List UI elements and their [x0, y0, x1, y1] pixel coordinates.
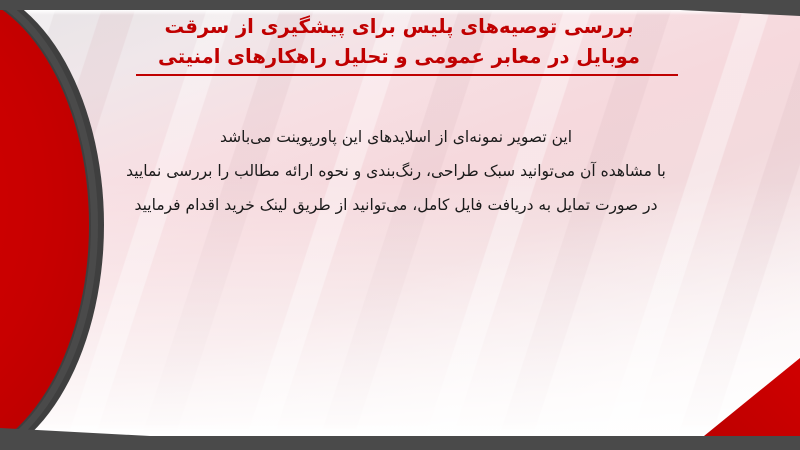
slide-body-text: این تصویر نمونه‌ای از اسلایدهای این پاور…	[112, 120, 680, 222]
bottom-frame-bar	[0, 436, 800, 450]
top-right-wedge	[680, 10, 800, 16]
title-underline-rule	[136, 74, 678, 76]
slide-title: بررسی توصیه‌های پلیس برای پیشگیری از سرق…	[110, 12, 688, 72]
presentation-slide: بررسی توصیه‌های پلیس برای پیشگیری از سرق…	[0, 0, 800, 450]
slide-title-line-2: موبایل در معابر عمومی و تحلیل راهکارهای …	[110, 42, 688, 72]
slide-body-line-3: در صورت تمایل به دریافت فایل کامل، می‌تو…	[112, 188, 680, 222]
bottom-left-wedge	[0, 428, 150, 436]
top-frame-bar	[0, 0, 800, 10]
slide-title-line-1: بررسی توصیه‌های پلیس برای پیشگیری از سرق…	[110, 12, 688, 42]
slide-body-line-1: این تصویر نمونه‌ای از اسلایدهای این پاور…	[112, 120, 680, 154]
slide-body-line-2: با مشاهده آن می‌توانید سبک طراحی، رنگ‌بن…	[112, 154, 680, 188]
